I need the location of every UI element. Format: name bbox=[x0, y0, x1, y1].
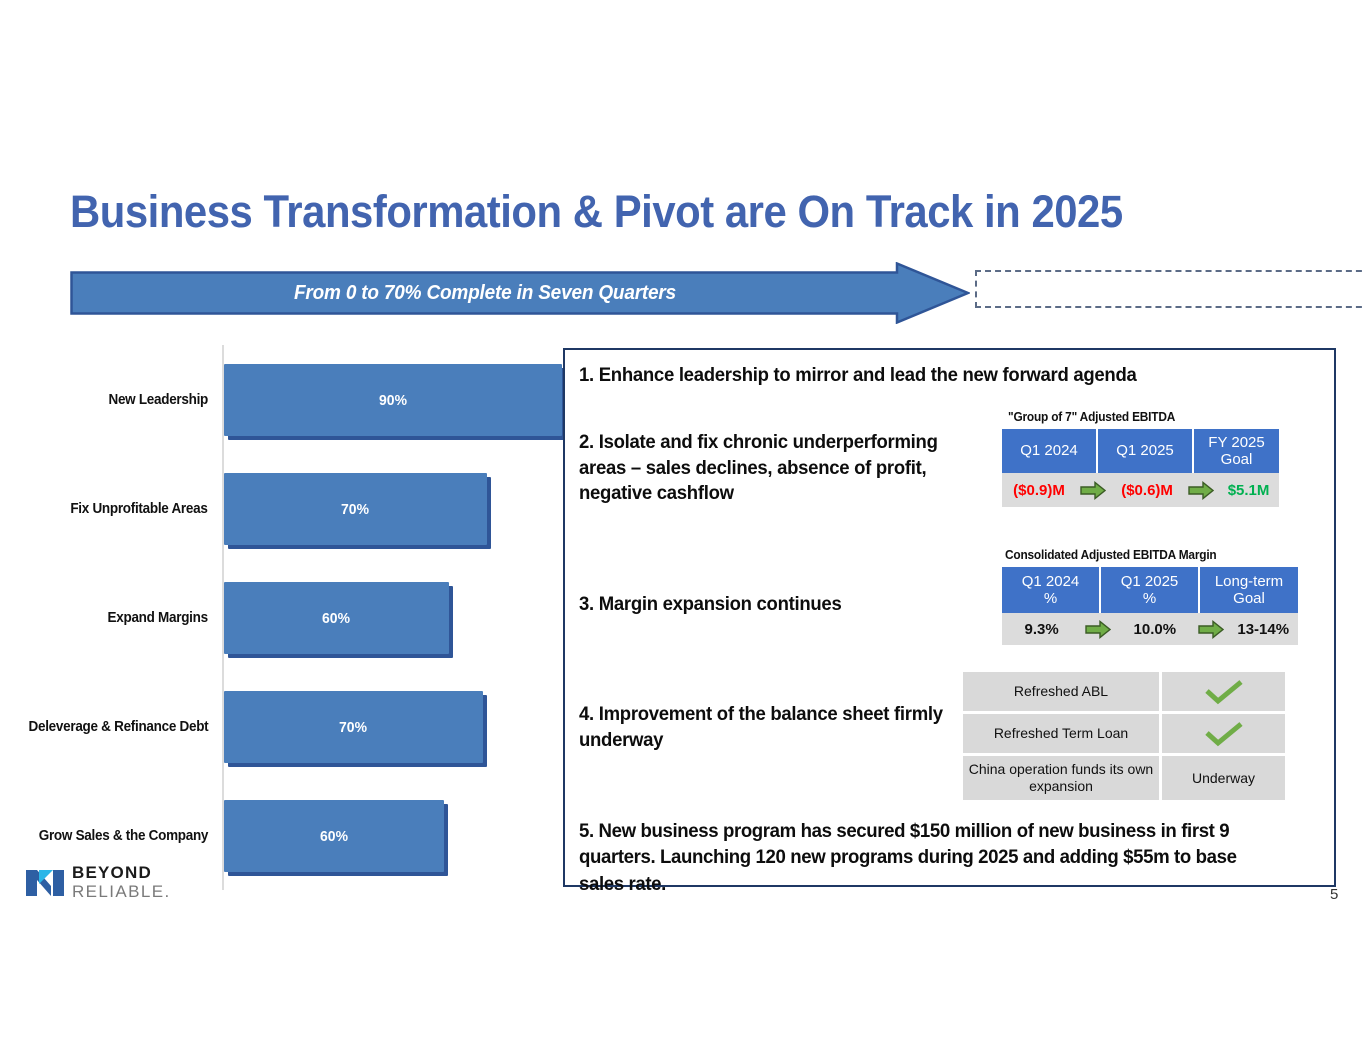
bar-value-label: 60% bbox=[320, 828, 348, 845]
bar-category-label: Deleverage & Refinance Debt bbox=[0, 719, 208, 735]
n-monogram-icon bbox=[26, 866, 64, 900]
initiative-1-text: 1. Enhance leadership to mirror and lead… bbox=[579, 363, 1282, 389]
check-icon bbox=[1202, 721, 1246, 747]
margin-header-long-term-goal-line2: Goal bbox=[1233, 590, 1265, 607]
bar-fix-unprofitable-areas: 70% bbox=[224, 473, 487, 545]
ebitda-table-values-row: ($0.9)M ($0.6)M $5.1M bbox=[1002, 473, 1279, 507]
bar-fill: 60% bbox=[224, 582, 449, 654]
bar-fill: 90% bbox=[224, 364, 562, 436]
ebitda-table-header-row: Q1 2024 Q1 2025 FY 2025 Goal bbox=[1002, 429, 1279, 473]
bar-value-label: 90% bbox=[379, 392, 407, 409]
bar-value-label: 70% bbox=[340, 719, 368, 736]
margin-value-q1-2024: 9.3% bbox=[1002, 621, 1081, 638]
page-number: 5 bbox=[1330, 886, 1338, 903]
chart-bar-row: New Leadership 90% bbox=[0, 345, 560, 454]
bs-status-china-operation: Underway bbox=[1162, 756, 1285, 800]
margin-header-q1-2025: Q1 2025 % bbox=[1101, 567, 1200, 613]
bar-category-label: Fix Unprofitable Areas bbox=[0, 501, 208, 517]
progress-banner: From 0 to 70% Complete in Seven Quarters bbox=[70, 262, 1335, 324]
bs-label-refreshed-term-loan: Refreshed Term Loan bbox=[963, 714, 1159, 753]
initiative-2-text: 2. Isolate and fix chronic underperformi… bbox=[579, 430, 978, 507]
logo-wordmark: BEYOND RELIABLE. bbox=[72, 864, 171, 900]
bs-label-china-operation: China operation funds its own expansion bbox=[963, 756, 1159, 800]
ebitda-table-caption: "Group of 7" Adjusted EBITDA bbox=[1008, 410, 1175, 424]
initiative-3-text: 3. Margin expansion continues bbox=[579, 592, 959, 618]
progress-arrow-icon bbox=[1184, 481, 1218, 500]
bs-status-refreshed-term-loan bbox=[1162, 714, 1285, 753]
progress-arrow-icon bbox=[1194, 620, 1228, 639]
initiatives-panel: 1. Enhance leadership to mirror and lead… bbox=[563, 348, 1336, 887]
margin-header-q1-2024-line1: Q1 2024 bbox=[1022, 573, 1080, 590]
progress-arrow-icon bbox=[1076, 481, 1110, 500]
margin-header-long-term-goal-line1: Long-term bbox=[1215, 573, 1283, 590]
margin-value-q1-2025: 10.0% bbox=[1115, 621, 1194, 638]
bar-expand-margins: 60% bbox=[224, 582, 449, 654]
margin-table: Q1 2024 % Q1 2025 % Long-term Goal 9.3% … bbox=[1002, 567, 1298, 645]
chart-bar-row: Deleverage & Refinance Debt 70% bbox=[0, 672, 560, 781]
margin-header-q1-2024: Q1 2024 % bbox=[1002, 567, 1101, 613]
logo-line-1: BEYOND bbox=[72, 864, 171, 881]
bar-category-label: Expand Margins bbox=[0, 610, 208, 626]
bar-value-label: 60% bbox=[323, 610, 351, 627]
bar-value-label: 70% bbox=[342, 501, 370, 518]
bar-fill: 60% bbox=[224, 800, 444, 872]
page-title: Business Transformation & Pivot are On T… bbox=[70, 186, 1223, 238]
margin-header-q1-2024-line2: % bbox=[1044, 590, 1057, 607]
progress-arrow-icon bbox=[1081, 620, 1115, 639]
balance-sheet-row: Refreshed ABL bbox=[963, 672, 1285, 711]
ebitda-header-q1-2024: Q1 2024 bbox=[1002, 429, 1098, 473]
bar-fill: 70% bbox=[224, 691, 483, 763]
ebitda-header-fy-2025-goal: FY 2025 Goal bbox=[1194, 429, 1279, 473]
ebitda-header-q1-2025: Q1 2025 bbox=[1098, 429, 1194, 473]
transformation-progress-chart: New Leadership 90% Fix Unprofitable Area… bbox=[0, 345, 560, 890]
margin-value-long-term-goal: 13-14% bbox=[1228, 621, 1298, 638]
bar-new-leadership: 90% bbox=[224, 364, 562, 436]
margin-table-caption: Consolidated Adjusted EBITDA Margin bbox=[1005, 548, 1217, 562]
margin-header-q1-2025-line1: Q1 2025 bbox=[1121, 573, 1179, 590]
margin-header-long-term-goal: Long-term Goal bbox=[1200, 567, 1298, 613]
bar-category-label: New Leadership bbox=[0, 392, 208, 408]
margin-table-header-row: Q1 2024 % Q1 2025 % Long-term Goal bbox=[1002, 567, 1298, 613]
initiative-4-text: 4. Improvement of the balance sheet firm… bbox=[579, 702, 959, 753]
bs-label-refreshed-abl: Refreshed ABL bbox=[963, 672, 1159, 711]
chart-bar-row: Expand Margins 60% bbox=[0, 563, 560, 672]
ebitda-value-fy-2025-goal: $5.1M bbox=[1218, 482, 1279, 499]
bs-status-refreshed-abl bbox=[1162, 672, 1285, 711]
bar-grow-sales-company: 60% bbox=[224, 800, 444, 872]
bar-deleverage-refinance-debt: 70% bbox=[224, 691, 483, 763]
check-icon bbox=[1202, 679, 1246, 705]
balance-sheet-table: Refreshed ABL Refreshed Term Loan China … bbox=[963, 672, 1285, 803]
ebitda-table: Q1 2024 Q1 2025 FY 2025 Goal ($0.9)M ($0… bbox=[1002, 429, 1279, 507]
logo-line-2: RELIABLE. bbox=[72, 883, 171, 900]
balance-sheet-row: China operation funds its own expansion … bbox=[963, 756, 1285, 800]
company-logo: BEYOND RELIABLE. bbox=[26, 864, 201, 904]
margin-header-q1-2025-line2: % bbox=[1143, 590, 1156, 607]
margin-table-values-row: 9.3% 10.0% 13-14% bbox=[1002, 613, 1298, 645]
bar-fill: 70% bbox=[224, 473, 487, 545]
chart-bar-row: Fix Unprofitable Areas 70% bbox=[0, 454, 560, 563]
bar-category-label: Grow Sales & the Company bbox=[0, 828, 208, 844]
ebitda-value-q1-2025: ($0.6)M bbox=[1110, 482, 1184, 499]
balance-sheet-row: Refreshed Term Loan bbox=[963, 714, 1285, 753]
initiative-5-text: 5. New business program has secured $150… bbox=[579, 818, 1286, 897]
banner-arrow-shape bbox=[70, 262, 970, 324]
ebitda-value-q1-2024: ($0.9)M bbox=[1002, 482, 1076, 499]
banner-dashed-extension bbox=[975, 270, 1365, 308]
